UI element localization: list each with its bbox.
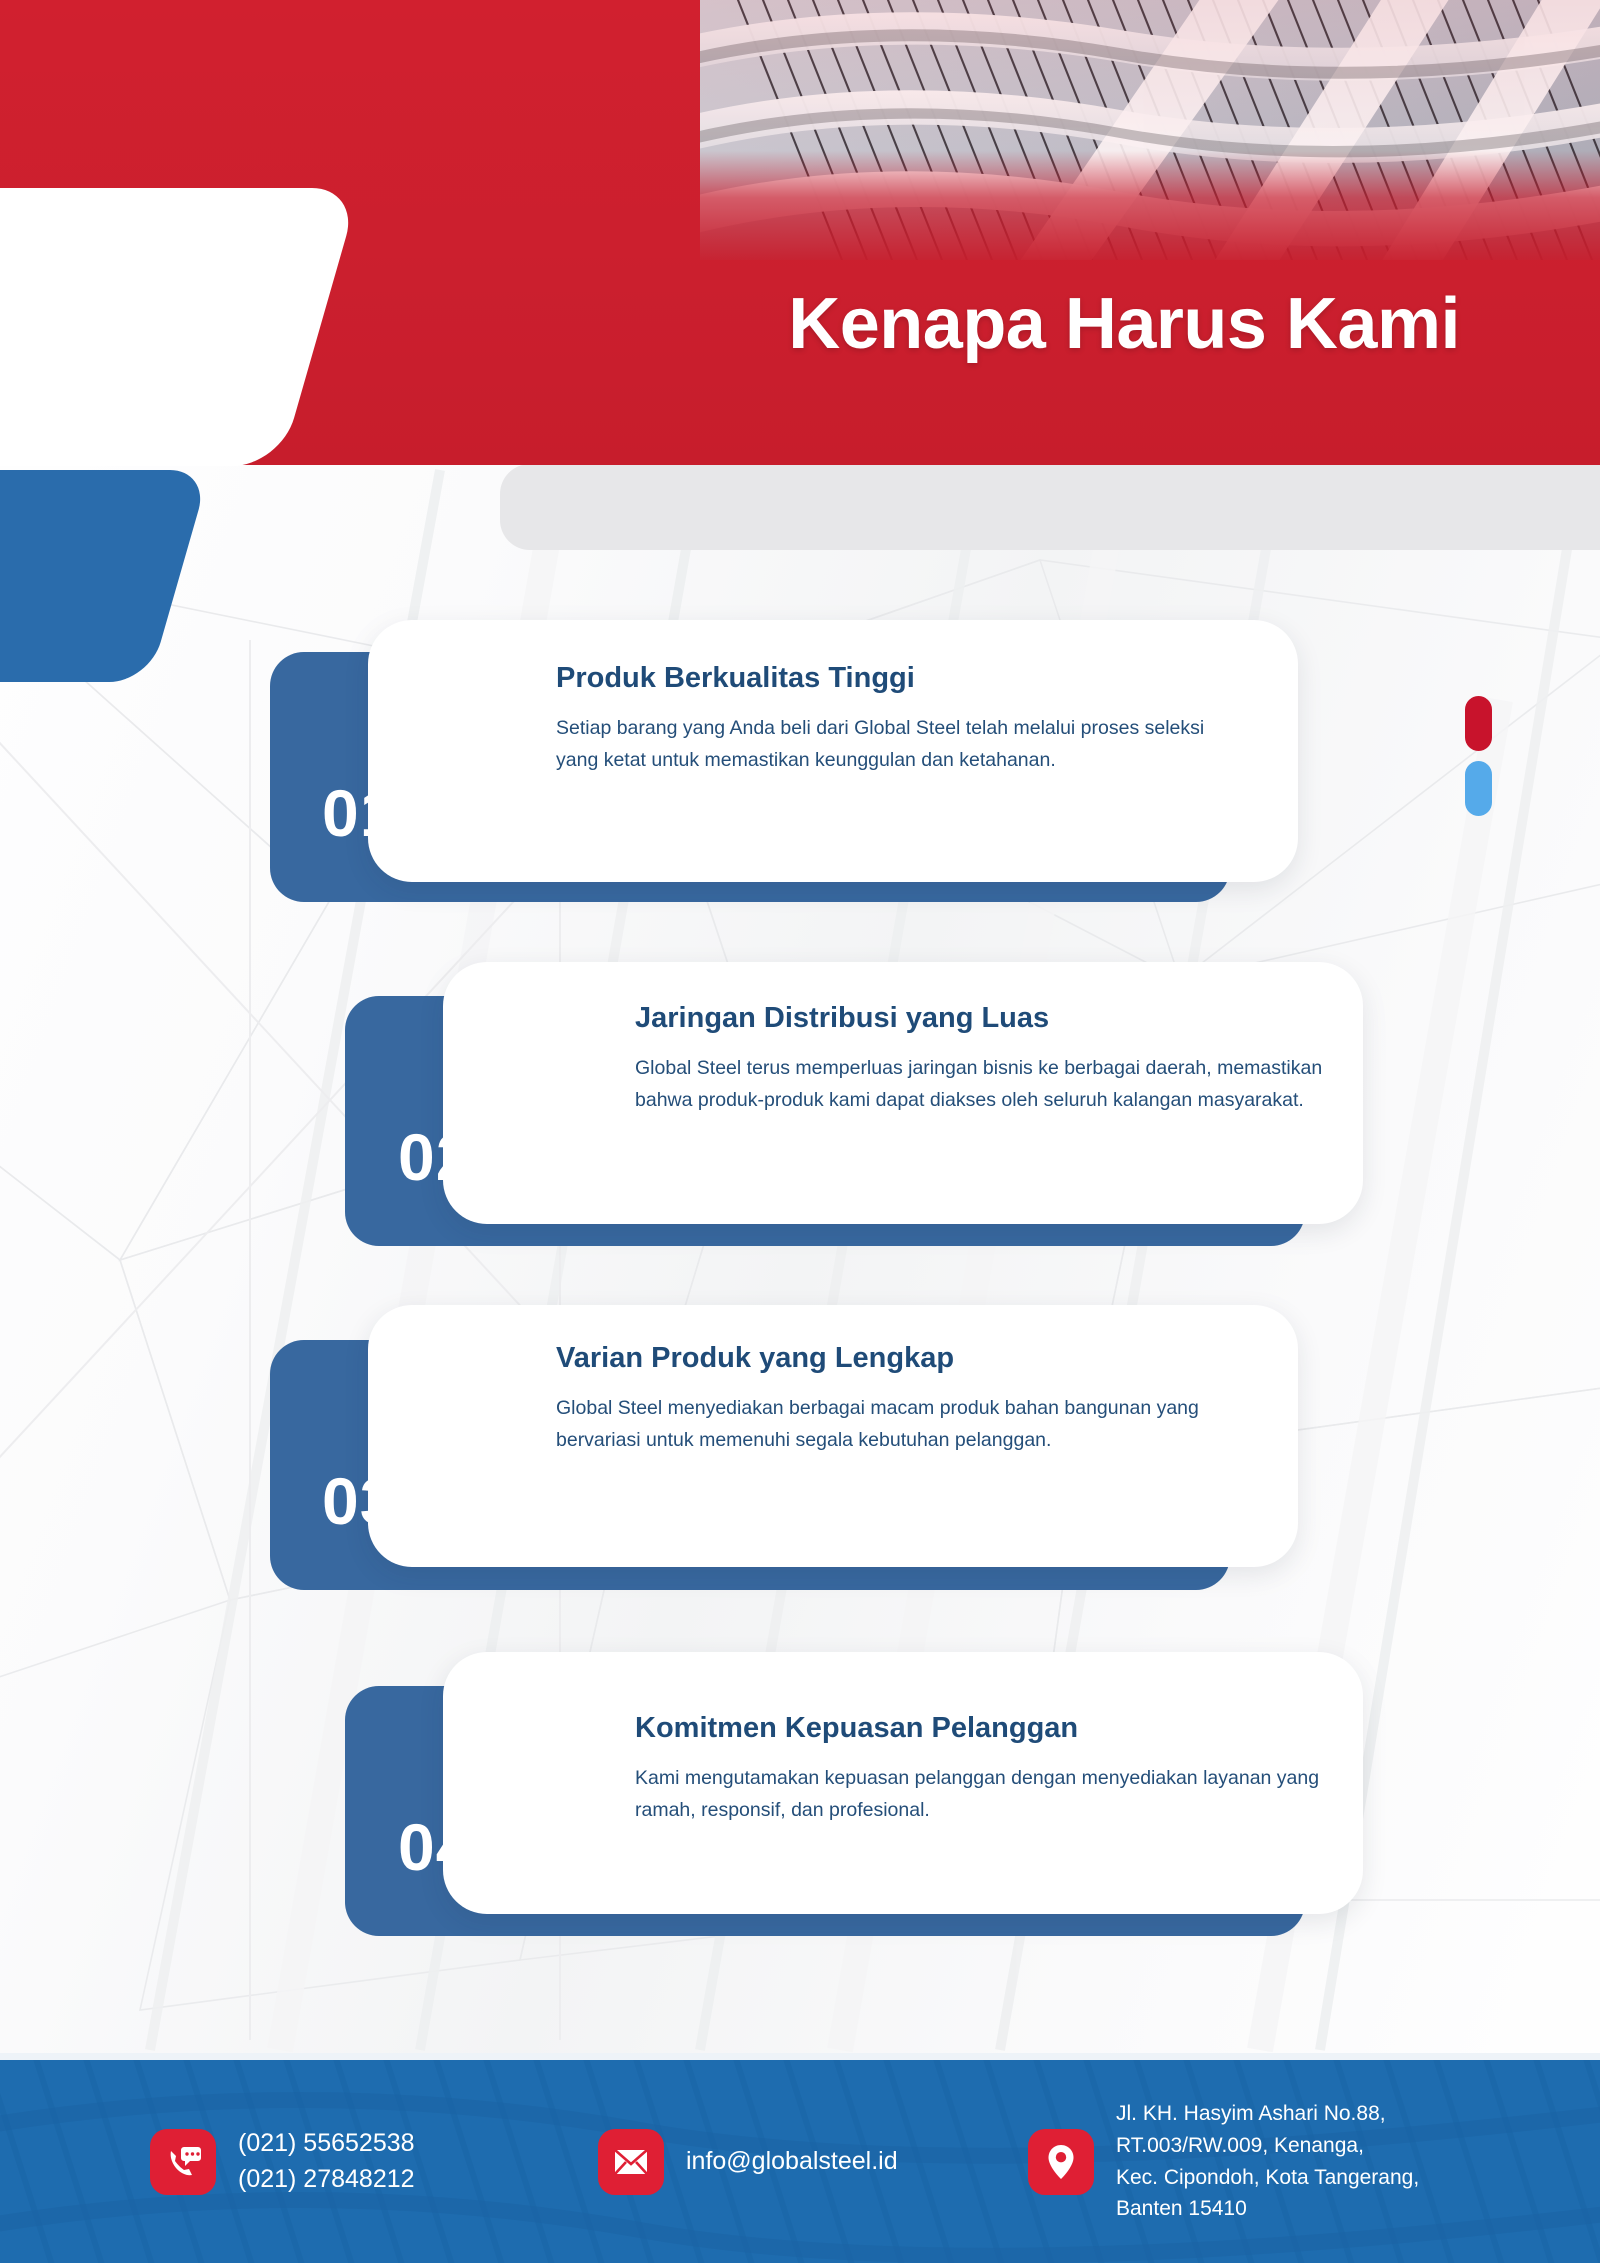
card-02-title: Jaringan Distribusi yang Luas [635, 1002, 1335, 1035]
feature-card-list: 01 Produk Berkualitas Tinggi Setiap bara… [0, 0, 1600, 2263]
card-03-number: 03 [322, 1468, 397, 1534]
card-03-body: Global Steel menyediakan berbagai macam … [556, 1393, 1236, 1456]
blue-pill-icon [1465, 761, 1492, 816]
footer: (021) 55652538 (021) 27848212 info@globa… [0, 2060, 1600, 2263]
card-02-body: Global Steel terus memperluas jaringan b… [635, 1053, 1335, 1116]
footer-phone-text: (021) 55652538 (021) 27848212 [238, 2126, 415, 2197]
phone-chat-icon [150, 2129, 216, 2195]
footer-address-line1: Jl. KH. Hasyim Ashari No.88, [1116, 2098, 1419, 2130]
footer-content: (021) 55652538 (021) 27848212 info@globa… [0, 2060, 1600, 2263]
card-02-number: 02 [398, 1124, 473, 1190]
footer-email-address: info@globalsteel.id [686, 2144, 898, 2180]
card-01-body: Setiap barang yang Anda beli dari Global… [556, 713, 1226, 776]
card-04-title: Komitmen Kepuasan Pelanggan [635, 1712, 1335, 1745]
location-pin-icon [1028, 2129, 1094, 2195]
card-01-title: Produk Berkualitas Tinggi [556, 662, 1256, 695]
footer-divider [0, 2053, 1600, 2060]
red-pill-icon [1465, 696, 1492, 751]
location-pin-glyph [1043, 2142, 1079, 2182]
footer-phone-block[interactable]: (021) 55652538 (021) 27848212 [150, 2126, 415, 2197]
decorative-pills [1465, 696, 1492, 816]
card-04-body: Kami mengutamakan kepuasan pelanggan den… [635, 1763, 1335, 1826]
footer-address-line4: Banten 15410 [1116, 2193, 1419, 2225]
phone-chat-glyph [163, 2142, 203, 2182]
envelope-glyph [612, 2143, 650, 2181]
card-04-number: 04 [398, 1814, 473, 1880]
footer-address-line2: RT.003/RW.009, Kenanga, [1116, 2130, 1419, 2162]
envelope-icon [598, 2129, 664, 2195]
footer-address-block[interactable]: Jl. KH. Hasyim Ashari No.88, RT.003/RW.0… [1028, 2098, 1419, 2226]
card-01-number: 01 [322, 780, 397, 846]
footer-address-text: Jl. KH. Hasyim Ashari No.88, RT.003/RW.0… [1116, 2098, 1419, 2226]
footer-email-text: info@globalsteel.id [686, 2144, 898, 2180]
card-03-title: Varian Produk yang Lengkap [556, 1342, 1256, 1375]
footer-phone-line1: (021) 55652538 [238, 2126, 415, 2162]
footer-email-block[interactable]: info@globalsteel.id [598, 2129, 898, 2195]
footer-address-line3: Kec. Cipondoh, Kota Tangerang, [1116, 2162, 1419, 2194]
footer-phone-line2: (021) 27848212 [238, 2162, 415, 2198]
poster-root: Kenapa Harus Kami 01 Produk Berkualitas … [0, 0, 1600, 2263]
